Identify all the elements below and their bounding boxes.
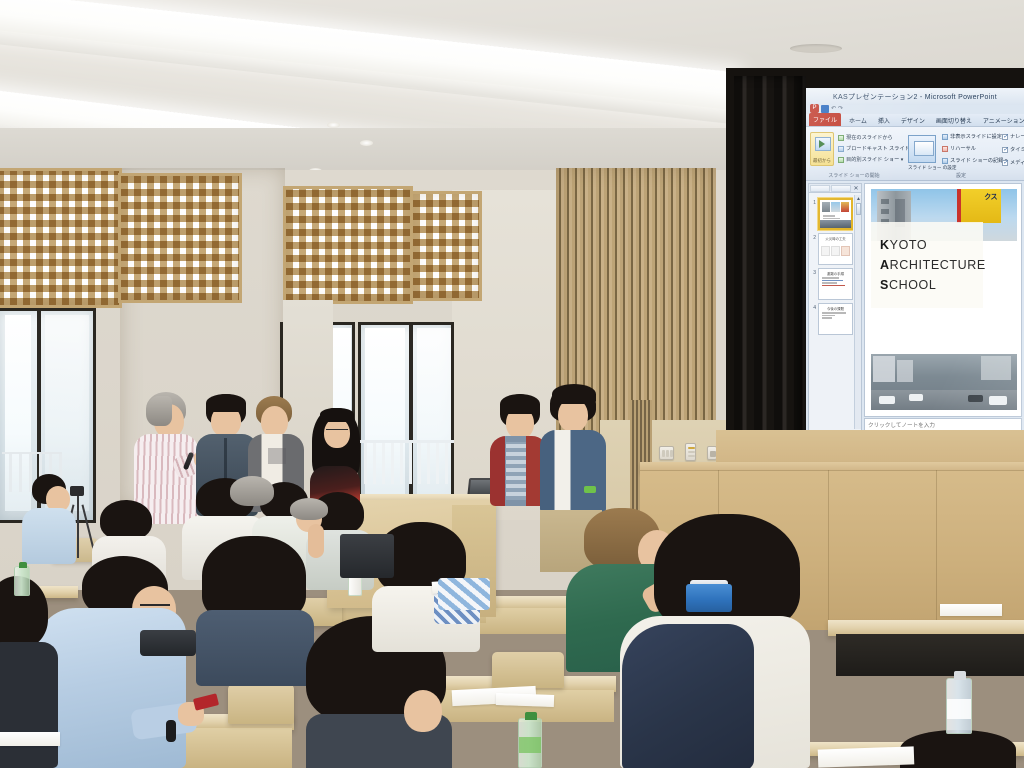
slide-canvas[interactable]: クス KYOTO ARCHITECTURE SCHOOL <box>864 183 1022 417</box>
hair <box>100 500 152 540</box>
arm <box>308 524 324 558</box>
list-item[interactable]: 1 <box>810 198 853 230</box>
pane-tab-slides[interactable] <box>810 185 830 192</box>
torso-denim-jacket <box>540 430 606 514</box>
blackout-curtain <box>734 76 806 460</box>
hair <box>900 730 1016 768</box>
hair-front <box>500 394 540 414</box>
ribbon: 最初から 現在のスライドから ブロードキャスト スライド ショー 目的別スライド… <box>806 127 1024 181</box>
quick-access-toolbar[interactable]: P ↶ ↷ <box>810 104 843 113</box>
record-slideshow-label: スライド ショーの記録 ▾ <box>950 157 1007 164</box>
checkbox-icon-timings <box>1002 147 1008 153</box>
paper-3 <box>818 746 915 767</box>
paper-4 <box>0 732 60 746</box>
ribbon-group-start-slideshow: 最初から 現在のスライドから ブロードキャスト スライド ショー 目的別スライド… <box>808 129 900 179</box>
sweater-over-shoulders <box>622 624 754 768</box>
hair-front <box>206 394 246 412</box>
tee-graphic <box>268 448 286 464</box>
list-item[interactable]: 4 今後の課題 <box>810 303 853 335</box>
close-icon[interactable]: ✕ <box>852 185 860 192</box>
thumbnail-number: 2 <box>810 233 816 241</box>
broadcast-icon <box>838 146 844 152</box>
scrollbar-thumb[interactable] <box>856 203 861 215</box>
hide-slide-button[interactable]: 非表示スライドに設定 <box>942 133 1002 140</box>
custom-slideshow-label: 目的別スライド ショー ▾ <box>846 156 903 163</box>
hair-side <box>146 396 172 426</box>
save-icon[interactable] <box>821 105 829 113</box>
desk-back-right-front <box>836 634 1024 676</box>
head <box>261 406 288 437</box>
paper-2 <box>496 693 554 707</box>
balcony-railing-right <box>358 440 454 484</box>
start-from-current-slide-label: 現在のスライドから <box>846 134 893 141</box>
bottle-cap <box>525 712 537 720</box>
office-orb-icon[interactable]: P <box>810 104 819 113</box>
ribbon-group-setup-label: 設定 <box>906 172 1016 179</box>
downlight-2 <box>360 140 373 146</box>
thumbnail-scrollbar[interactable]: ▲ <box>854 195 861 429</box>
thumbnail-title: 火災時の工夫 <box>819 236 852 241</box>
powerpoint-window: KASプレゼンテーション2 - Microsoft PowerPoint P ↶… <box>806 88 1024 457</box>
av-control-panel[interactable] <box>685 443 696 461</box>
thumbnail-title: 避難の手順 <box>819 271 852 276</box>
thumbnail-photo-strip <box>820 220 851 228</box>
bottle-label <box>947 699 971 719</box>
custom-slideshow-icon <box>838 157 844 163</box>
ceiling-vent-1 <box>790 44 842 53</box>
thumbnail-slide-3[interactable]: 避難の手順 <box>818 268 853 300</box>
tab-animations[interactable]: アニメーション <box>980 115 1024 126</box>
person-audience-right-edge <box>900 730 1020 768</box>
timings-checkbox[interactable]: タイミング <box>1002 146 1024 153</box>
person-audience-blue-shirt-phone <box>36 556 196 768</box>
thumbnail-pane-tabs[interactable]: ✕ <box>809 184 861 193</box>
blue-storage-box <box>686 584 732 612</box>
start-from-beginning-button[interactable]: 最初から <box>810 132 834 166</box>
record-icon <box>942 158 948 164</box>
checkbox-icon-narration <box>1002 134 1008 140</box>
camera-bag <box>140 630 196 656</box>
paper-6 <box>940 604 1002 616</box>
thumbnail-number: 3 <box>810 268 816 276</box>
tab-transitions[interactable]: 画面切り替え <box>933 115 975 126</box>
tab-home[interactable]: ホーム <box>846 115 870 126</box>
window-title: KASプレゼンテーション2 - Microsoft PowerPoint <box>833 92 997 102</box>
monitor <box>340 534 394 578</box>
thumbnail-images <box>820 200 851 214</box>
hair <box>230 476 274 506</box>
start-from-current-slide-button[interactable]: 現在のスライドから <box>838 134 893 141</box>
thumbnail-list[interactable]: 1 <box>810 195 853 429</box>
plaid-shirt <box>506 442 526 500</box>
water-bottle-green-1 <box>14 566 30 596</box>
slide-title-box: KYOTO ARCHITECTURE SCHOOL <box>871 222 983 308</box>
wood-lattice-screen-4 <box>410 191 482 301</box>
thumbnail-slide-1[interactable] <box>818 198 853 230</box>
wood-lattice-screen-1 <box>0 168 122 308</box>
wood-lattice-screen-3 <box>283 186 413 304</box>
face-partial <box>404 690 442 732</box>
ribbon-group-setup: スライド ショー の設定 非表示スライドに設定 リハーサル スライド ショーの記… <box>906 129 1016 179</box>
record-slideshow-button[interactable]: スライド ショーの記録 ▾ <box>942 157 1007 164</box>
downlight-1 <box>327 122 340 128</box>
thumbnail-slide-2[interactable]: 火災時の工夫 <box>818 233 853 265</box>
tab-file[interactable]: ファイル <box>809 113 841 126</box>
person-audience-balding <box>224 476 284 536</box>
slide-title-line-1: KYOTO <box>880 235 983 255</box>
person-audience-camera-operator <box>22 474 78 562</box>
sign-text: クス <box>984 193 997 202</box>
person-audience-hand-on-chin <box>282 498 346 582</box>
thumbnail-number: 1 <box>810 198 816 206</box>
thumbnail-title: 今後の課題 <box>819 306 852 311</box>
mobile-phone <box>193 693 219 710</box>
lecture-hall-photo: KASプレゼンテーション2 - Microsoft PowerPoint P ↶… <box>0 0 1024 768</box>
torso-navy-top <box>196 610 314 686</box>
redo-icon[interactable]: ↷ <box>838 105 843 112</box>
hair-spiky <box>552 384 596 404</box>
bottle-label <box>519 737 541 753</box>
slide-thumbnail-pane[interactable]: ✕ 1 <box>808 183 862 431</box>
thumbnail-number: 4 <box>810 303 816 311</box>
chair-1 <box>228 684 294 724</box>
ribbon-group-show-options: ナレーション タイミング メディア <box>1002 129 1024 179</box>
hair <box>290 498 328 520</box>
rehearse-timings-label: リハーサル <box>950 145 976 152</box>
hair-bangs <box>320 408 354 422</box>
slide-title-line-2: ARCHITECTURE <box>880 255 983 275</box>
tab-insert[interactable]: 挿入 <box>875 115 893 126</box>
setup-slideshow-button[interactable] <box>908 135 936 163</box>
water-bottle-green-2 <box>518 718 542 768</box>
list-item[interactable]: 3 避難の手順 <box>810 268 853 300</box>
ribbon-tabs[interactable]: ファイル ホーム 挿入 デザイン 画面切り替え アニメーション スライド ショー <box>806 114 1024 127</box>
custom-slideshow-button[interactable]: 目的別スライド ショー ▾ <box>838 156 903 163</box>
slide-photo-bottom <box>871 354 1017 410</box>
bottle-cap <box>954 671 966 680</box>
wristband <box>166 720 176 742</box>
wristwatch <box>584 486 596 493</box>
water-bottle-clear <box>946 678 972 734</box>
wood-lattice-screen-2 <box>118 173 242 303</box>
rehearse-icon <box>942 146 948 152</box>
projection-screen: KASプレゼンテーション2 - Microsoft PowerPoint P ↶… <box>806 88 1024 457</box>
head <box>324 418 350 448</box>
chair-2 <box>492 652 564 688</box>
ribbon-group-start-label: スライド ショーの開始 <box>808 172 900 179</box>
hide-slide-label: 非表示スライドに設定 <box>950 133 1002 140</box>
thumbnail-slide-4[interactable]: 今後の課題 <box>818 303 853 335</box>
undo-icon[interactable]: ↶ <box>831 105 836 112</box>
current-slide-icon <box>838 135 844 141</box>
list-item[interactable]: 2 火災時の工夫 <box>810 233 853 265</box>
striped-bag <box>438 578 490 610</box>
hair <box>654 514 800 632</box>
play-triangle-icon <box>819 140 825 148</box>
rehearse-timings-button[interactable]: リハーサル <box>942 145 976 152</box>
scroll-up-icon[interactable]: ▲ <box>856 196 861 202</box>
start-from-beginning-label: 最初から <box>811 158 833 164</box>
bottle-cap <box>19 562 27 568</box>
slide-title-line-3: SCHOOL <box>880 275 983 295</box>
tab-design[interactable]: デザイン <box>898 115 928 126</box>
light-switch-panel[interactable] <box>659 446 674 460</box>
glasses-icon <box>326 429 348 433</box>
setup-slideshow-label: スライド ショー の設定 <box>908 165 938 171</box>
pane-tab-outline[interactable] <box>831 185 851 192</box>
powerpoint-titlebar: KASプレゼンテーション2 - Microsoft PowerPoint <box>806 88 1024 105</box>
media-label: メディア <box>1010 159 1024 166</box>
timings-label: タイミング <box>1010 146 1024 153</box>
media-checkbox[interactable]: メディア <box>1002 159 1024 166</box>
checkbox-icon-media <box>1002 160 1008 166</box>
hide-slide-icon <box>942 134 948 140</box>
person-audience-navy-sweater <box>620 514 816 768</box>
narration-label: ナレーション <box>1010 133 1024 140</box>
narration-checkbox[interactable]: ナレーション <box>1002 133 1024 140</box>
torso <box>0 642 58 768</box>
